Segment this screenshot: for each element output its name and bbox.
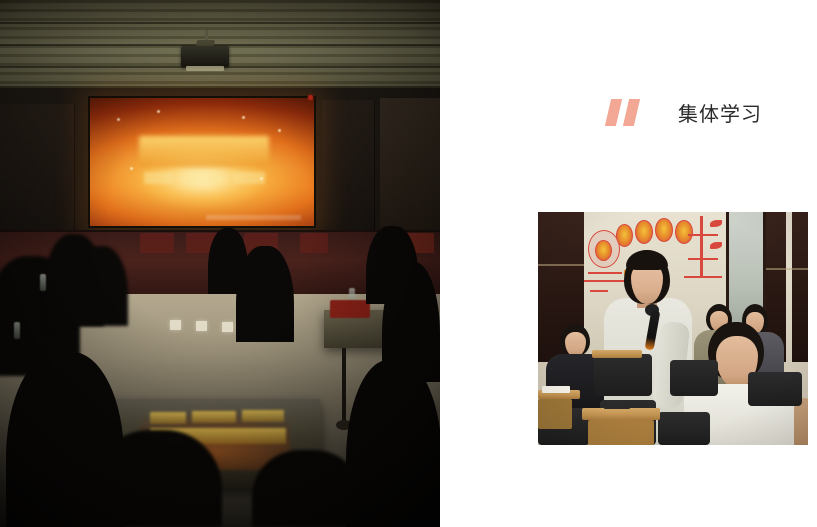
mural-stroke: [588, 272, 622, 274]
conference-chair: [748, 372, 802, 406]
wood-wall-panel: [792, 212, 808, 362]
photo-right-classroom-speaker: [538, 212, 808, 445]
wood-panel-seam: [760, 268, 808, 270]
floor-light-reflection: [196, 321, 207, 331]
section-heading: 集体学习: [608, 98, 762, 127]
desk-front: [538, 399, 572, 429]
screen-title-text-blur: [139, 136, 269, 167]
classroom-desk: [582, 408, 660, 420]
screen-player-controls: [206, 215, 300, 220]
mural-lantern: [616, 224, 633, 247]
wood-panel-seam: [538, 264, 584, 266]
double-slash-icon: [608, 99, 642, 126]
water-bottle: [40, 274, 46, 291]
mural-lantern: [675, 220, 693, 244]
mural-branch: [688, 234, 718, 236]
paper-on-desk: [542, 386, 570, 393]
screen-subtitle-block: [144, 172, 173, 184]
conference-chair: [658, 412, 710, 445]
projection-screen: [90, 98, 314, 226]
mural-lantern: [635, 220, 653, 244]
water-bottle: [14, 322, 20, 339]
wall-panel: [322, 100, 375, 234]
conference-chair: [670, 360, 718, 396]
mural-stroke: [590, 290, 608, 292]
wall-panel: [0, 104, 75, 234]
audience-silhouette: [252, 450, 362, 527]
red-box-on-desk: [330, 300, 370, 318]
mural-lantern: [655, 218, 673, 242]
audience-silhouette: [92, 430, 222, 527]
projector-icon: [181, 46, 229, 67]
slash-bar-right: [623, 99, 640, 126]
projector-lens: [186, 66, 224, 71]
screen-subtitle-block: [184, 172, 220, 184]
wall-panel: [380, 98, 440, 234]
screen-corner-light: [308, 95, 313, 100]
desk-leg: [342, 348, 346, 426]
audience-silhouette: [74, 246, 128, 326]
ceiling-seam: [0, 22, 440, 24]
dais-chair: [140, 233, 174, 253]
classroom-desk: [592, 350, 642, 358]
audience-silhouette: [236, 246, 294, 342]
desk-front: [588, 420, 654, 445]
conference-chair: [594, 354, 652, 396]
mural-stroke: [684, 276, 722, 278]
dais-chair: [300, 233, 328, 253]
section-heading-title: 集体学习: [678, 98, 762, 127]
mural-lantern: [595, 240, 612, 261]
pen-on-desk: [604, 404, 630, 409]
photo-left-conference-hall: [0, 0, 440, 527]
slash-bar-left: [605, 99, 622, 126]
mural-branch-stem: [700, 216, 703, 278]
mural-branch: [688, 258, 718, 260]
floor-light-reflection: [170, 320, 181, 330]
floor-light-reflection: [222, 322, 233, 332]
